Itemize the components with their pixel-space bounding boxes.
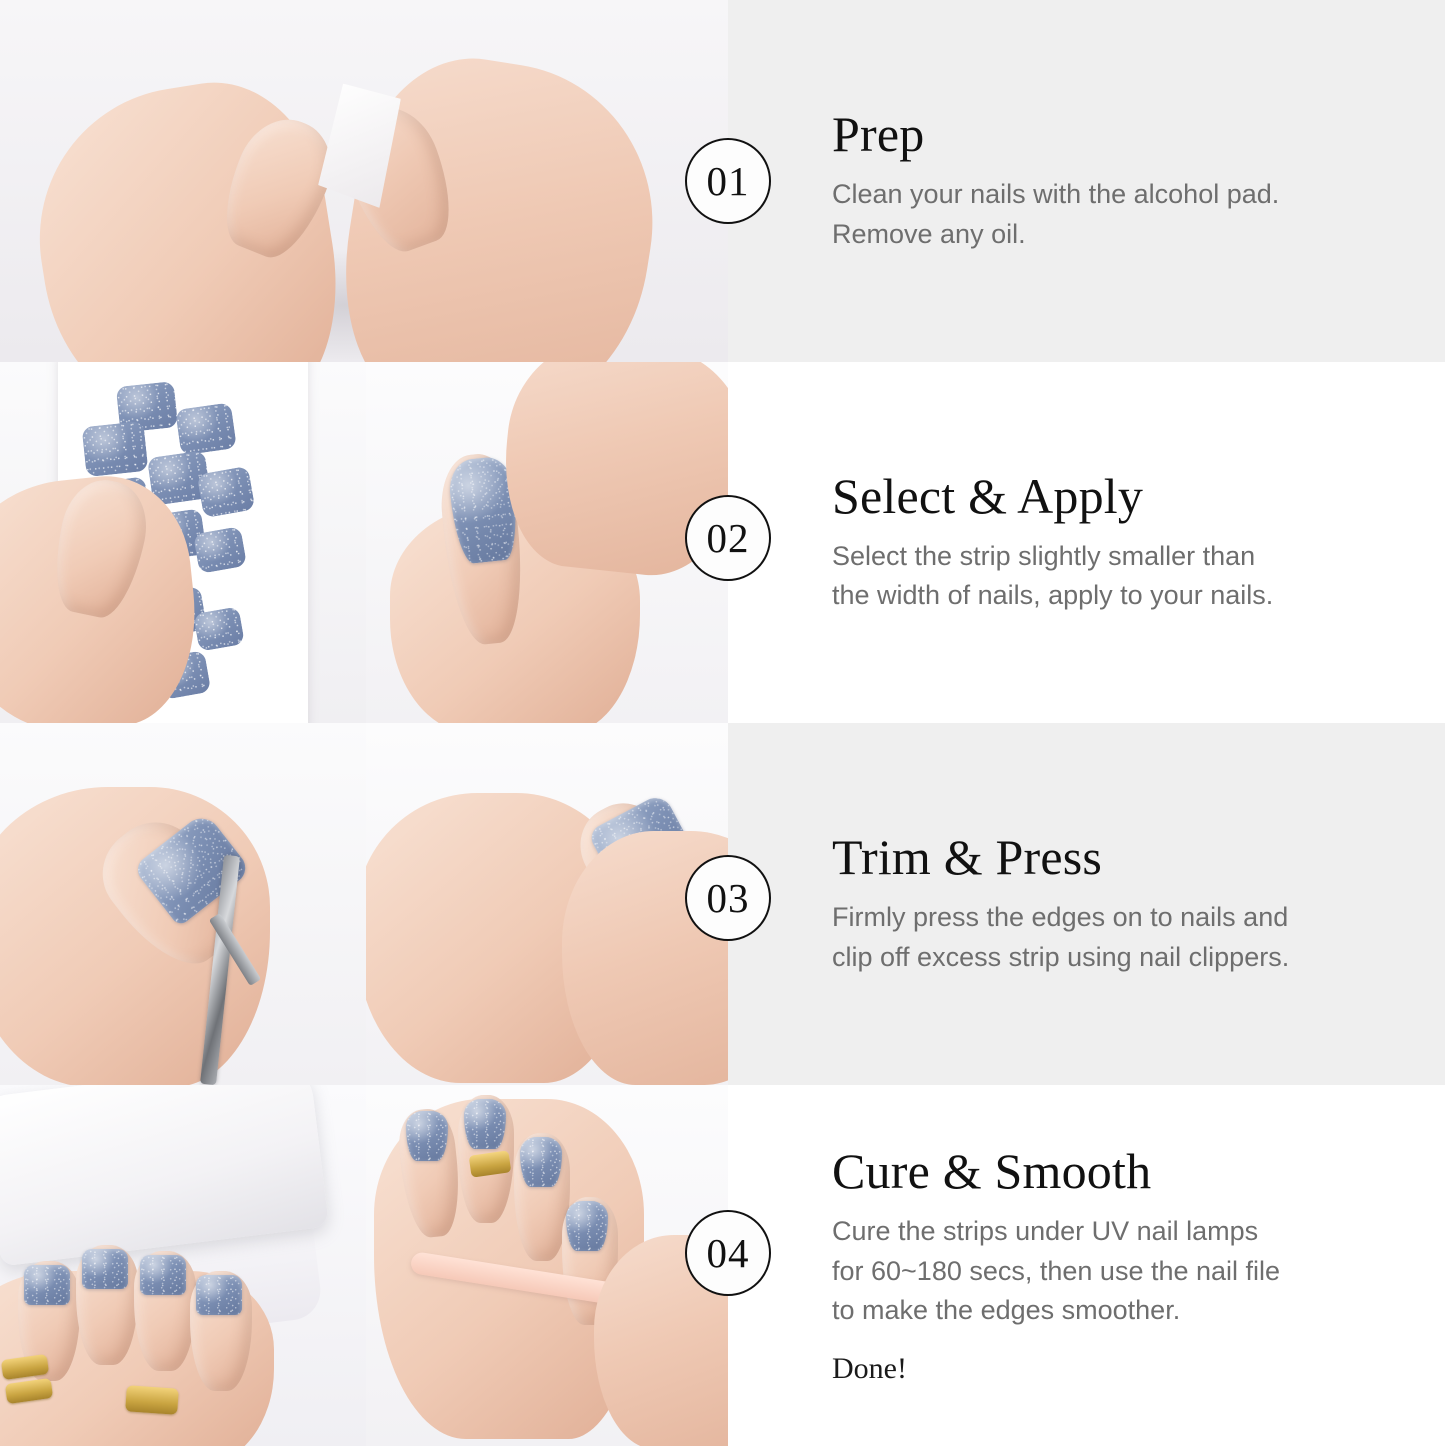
step-badge-3: 03 [685, 855, 771, 941]
step-body-3: Firmly press the edges on to nails and c… [832, 898, 1445, 977]
photo-column-4 [0, 1085, 728, 1446]
photo-nail-file [366, 1085, 728, 1446]
done-label: Done! [832, 1352, 1445, 1386]
text-column-3: Trim & Press Firmly press the edges on t… [728, 723, 1445, 1085]
photo-trim-clippers [0, 723, 366, 1085]
step-heading-1: Prep [832, 107, 1445, 161]
photo-press-stick [366, 723, 728, 1085]
step-heading-4: Cure & Smooth [832, 1144, 1445, 1198]
step-badge-number-2: 02 [707, 514, 750, 562]
photo-strip-sheet [0, 362, 366, 724]
photo-column-1 [0, 0, 728, 362]
step-body-2: Select the strip slightly smaller than t… [832, 537, 1445, 616]
photo-column-3 [0, 723, 728, 1085]
step-body-4: Cure the strips under UV nail lamps for … [832, 1212, 1445, 1330]
step-badge-number-3: 03 [707, 874, 750, 922]
step-badge-number-4: 04 [707, 1229, 750, 1277]
text-column-1: Prep Clean your nails with the alcohol p… [728, 0, 1445, 362]
step-badge-4: 04 [685, 1210, 771, 1296]
photo-column-2 [0, 362, 728, 724]
step-badge-1: 01 [685, 138, 771, 224]
text-column-2: Select & Apply Select the strip slightly… [728, 362, 1445, 724]
text-column-4: Cure & Smooth Cure the strips under UV n… [728, 1085, 1445, 1446]
step-heading-2: Select & Apply [832, 469, 1445, 523]
step-heading-3: Trim & Press [832, 830, 1445, 884]
nail-strip-instructions: Prep Clean your nails with the alcohol p… [0, 0, 1445, 1446]
photo-uv-lamp [0, 1085, 366, 1446]
step-badge-number-1: 01 [707, 157, 750, 205]
step-body-1: Clean your nails with the alcohol pad. R… [832, 175, 1445, 254]
photo-apply-strip [366, 362, 728, 724]
photo-prep [0, 0, 728, 362]
step-badge-2: 02 [685, 495, 771, 581]
